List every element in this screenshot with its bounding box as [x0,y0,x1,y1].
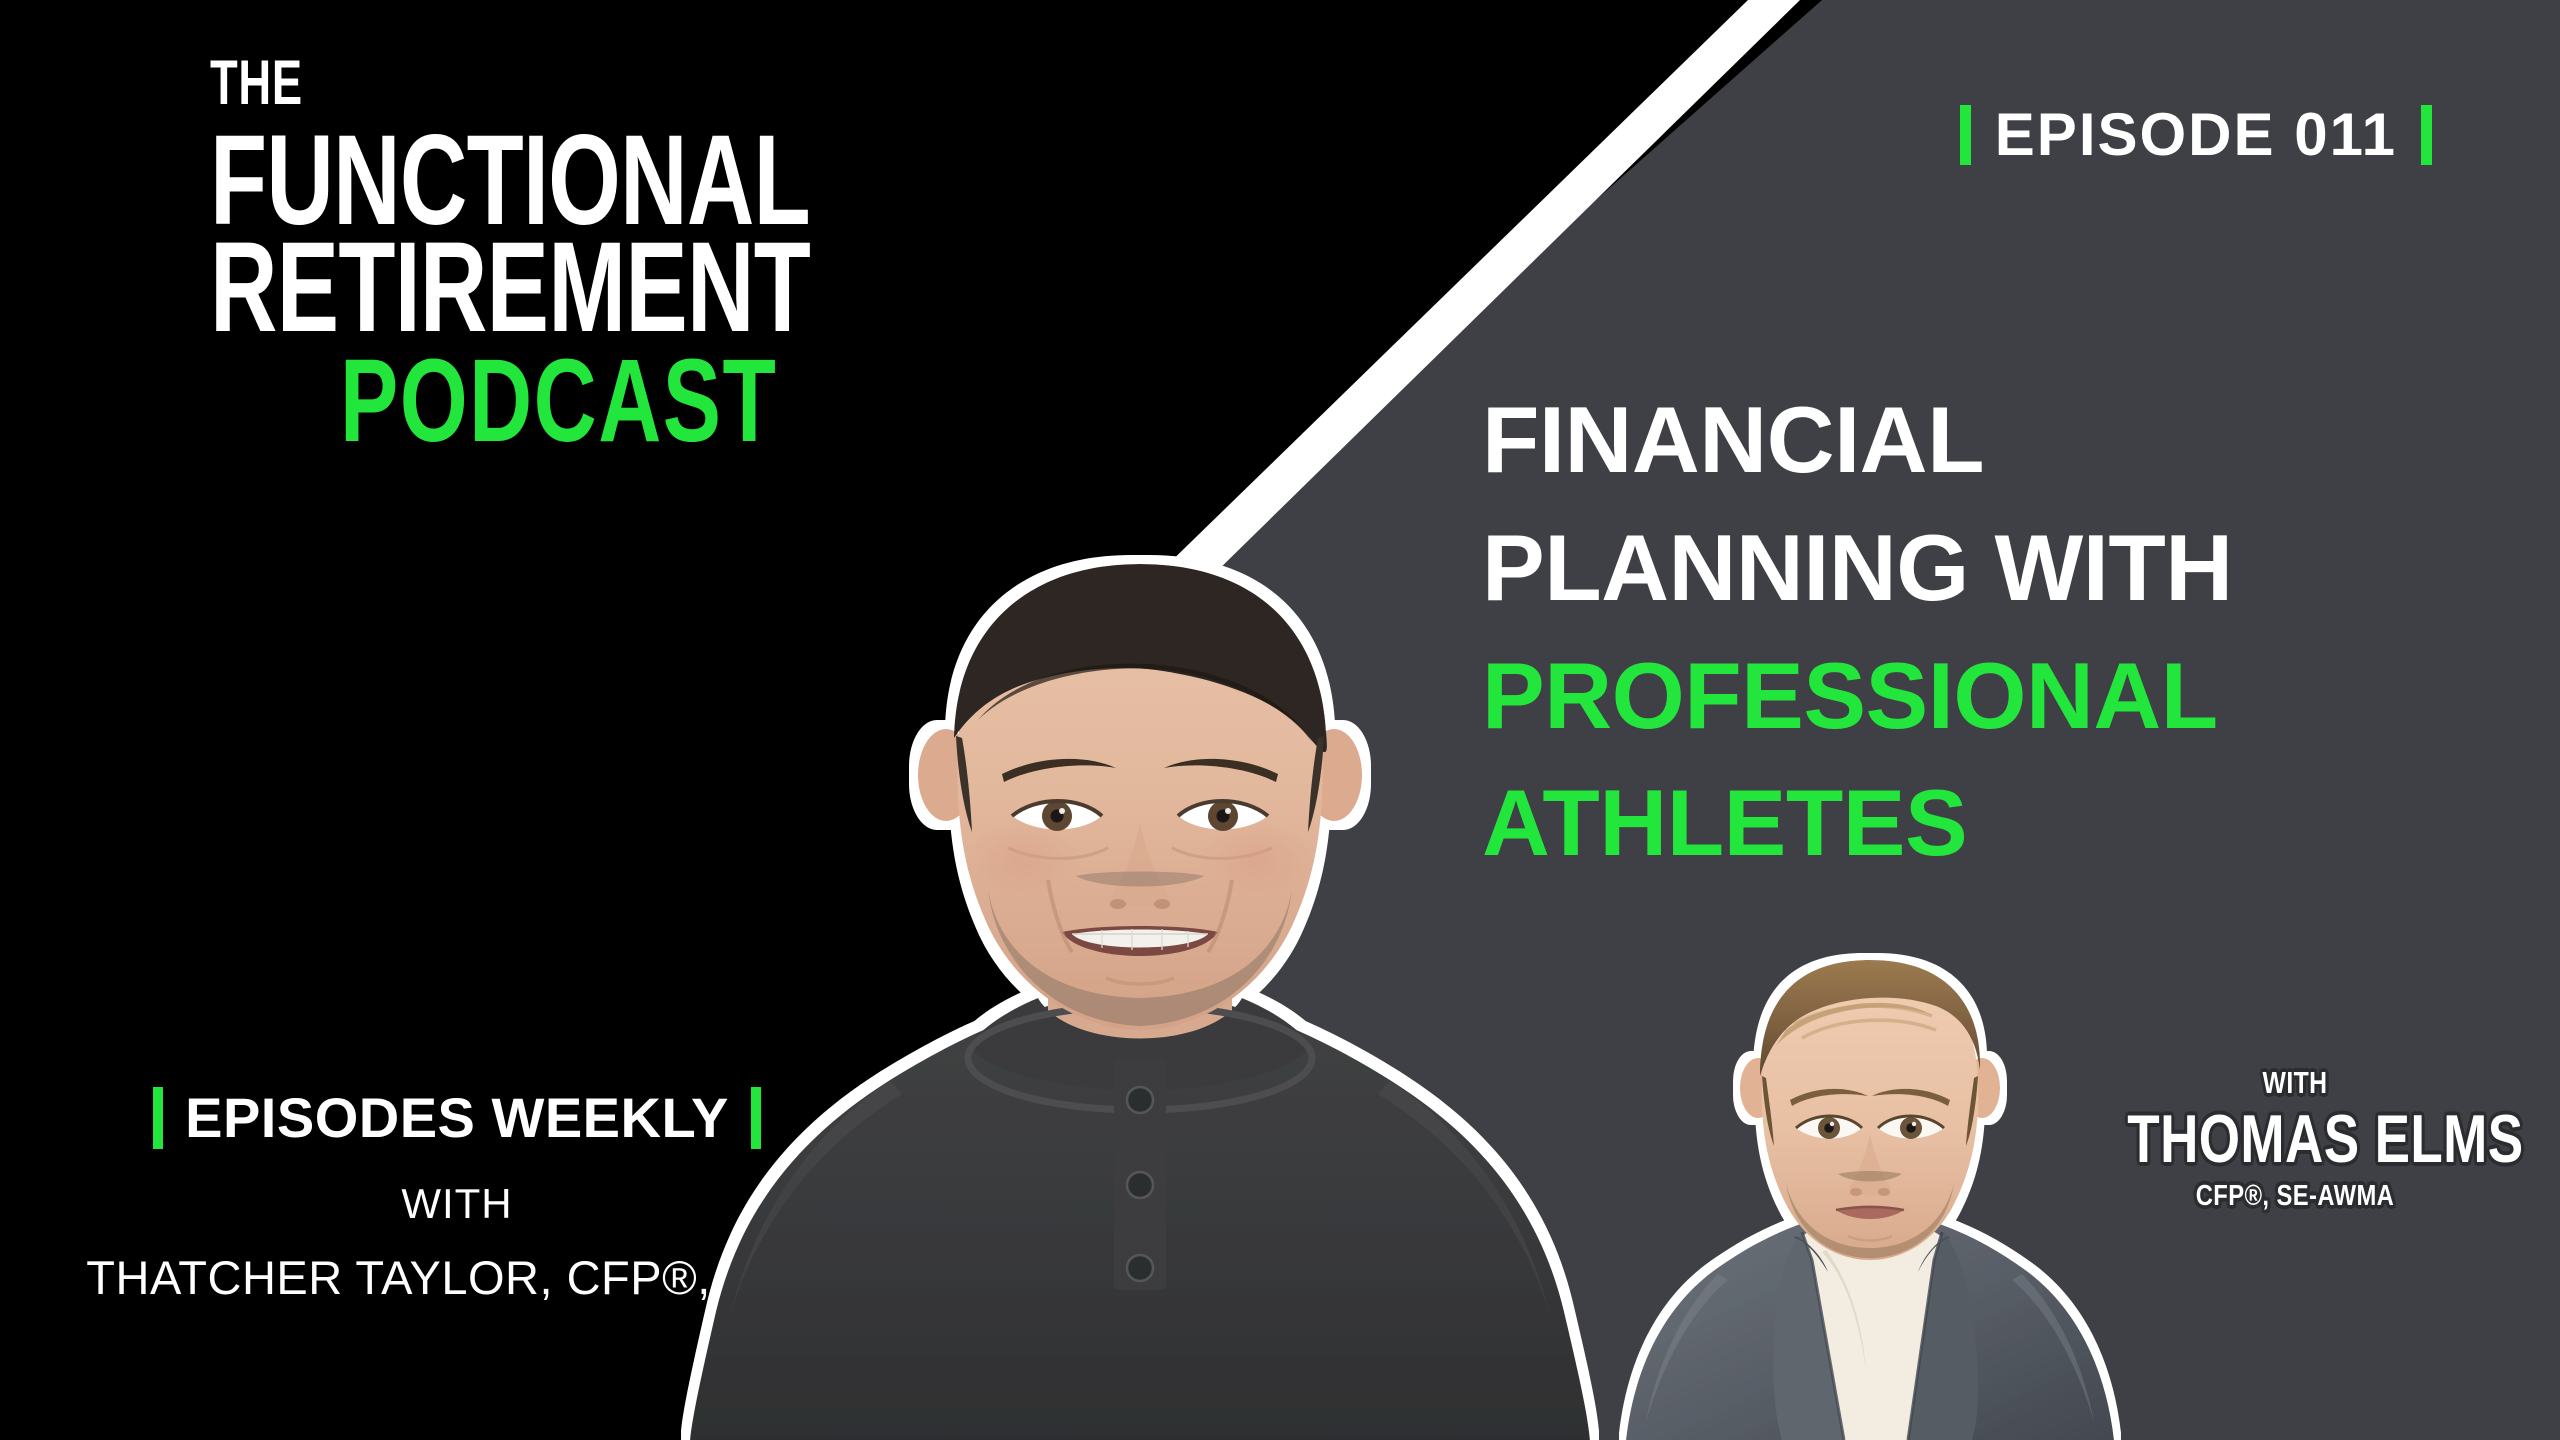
episode-number-label: EPISODE 011 [1995,105,2397,165]
guest-figure [1626,960,2114,1440]
guest-head [1740,960,2000,1260]
host-figure [690,564,1590,1440]
guest-credit-block: WITH THOMAS ELMS CFP®, SE-AWMA [2080,1065,2510,1213]
green-bar-left-icon [1960,105,1971,165]
episode-cover-canvas: THE FUNCTIONAL RETIREMENT PODCAST EPISOD… [0,0,2560,1440]
logo-line-the: THE [210,55,714,113]
logo-line-podcast: PODCAST [340,348,762,454]
episode-badge: EPISODE 011 [1960,105,2432,165]
guest-credentials-label: CFP®, SE-AWMA [2119,1180,2472,1213]
host-shirt-button-1 [1127,1087,1153,1113]
title-line-1: FINANCIAL [1482,376,2492,504]
green-bar-weekly-left-icon [153,1087,163,1149]
logo-line-retirement: RETIREMENT [210,234,721,342]
guest-name-label: THOMAS ELMS [2127,1105,2462,1174]
host-shirt-button-3 [1127,1255,1153,1281]
guest-headshot [1590,960,2150,1440]
host-shirt-button-2 [1127,1172,1153,1198]
host-headshot [640,560,1640,1440]
podcast-logo: THE FUNCTIONAL RETIREMENT PODCAST [210,55,910,454]
guest-with-label: WITH [2123,1065,2467,1101]
green-bar-right-icon [2421,105,2432,165]
host-head [918,564,1362,1030]
